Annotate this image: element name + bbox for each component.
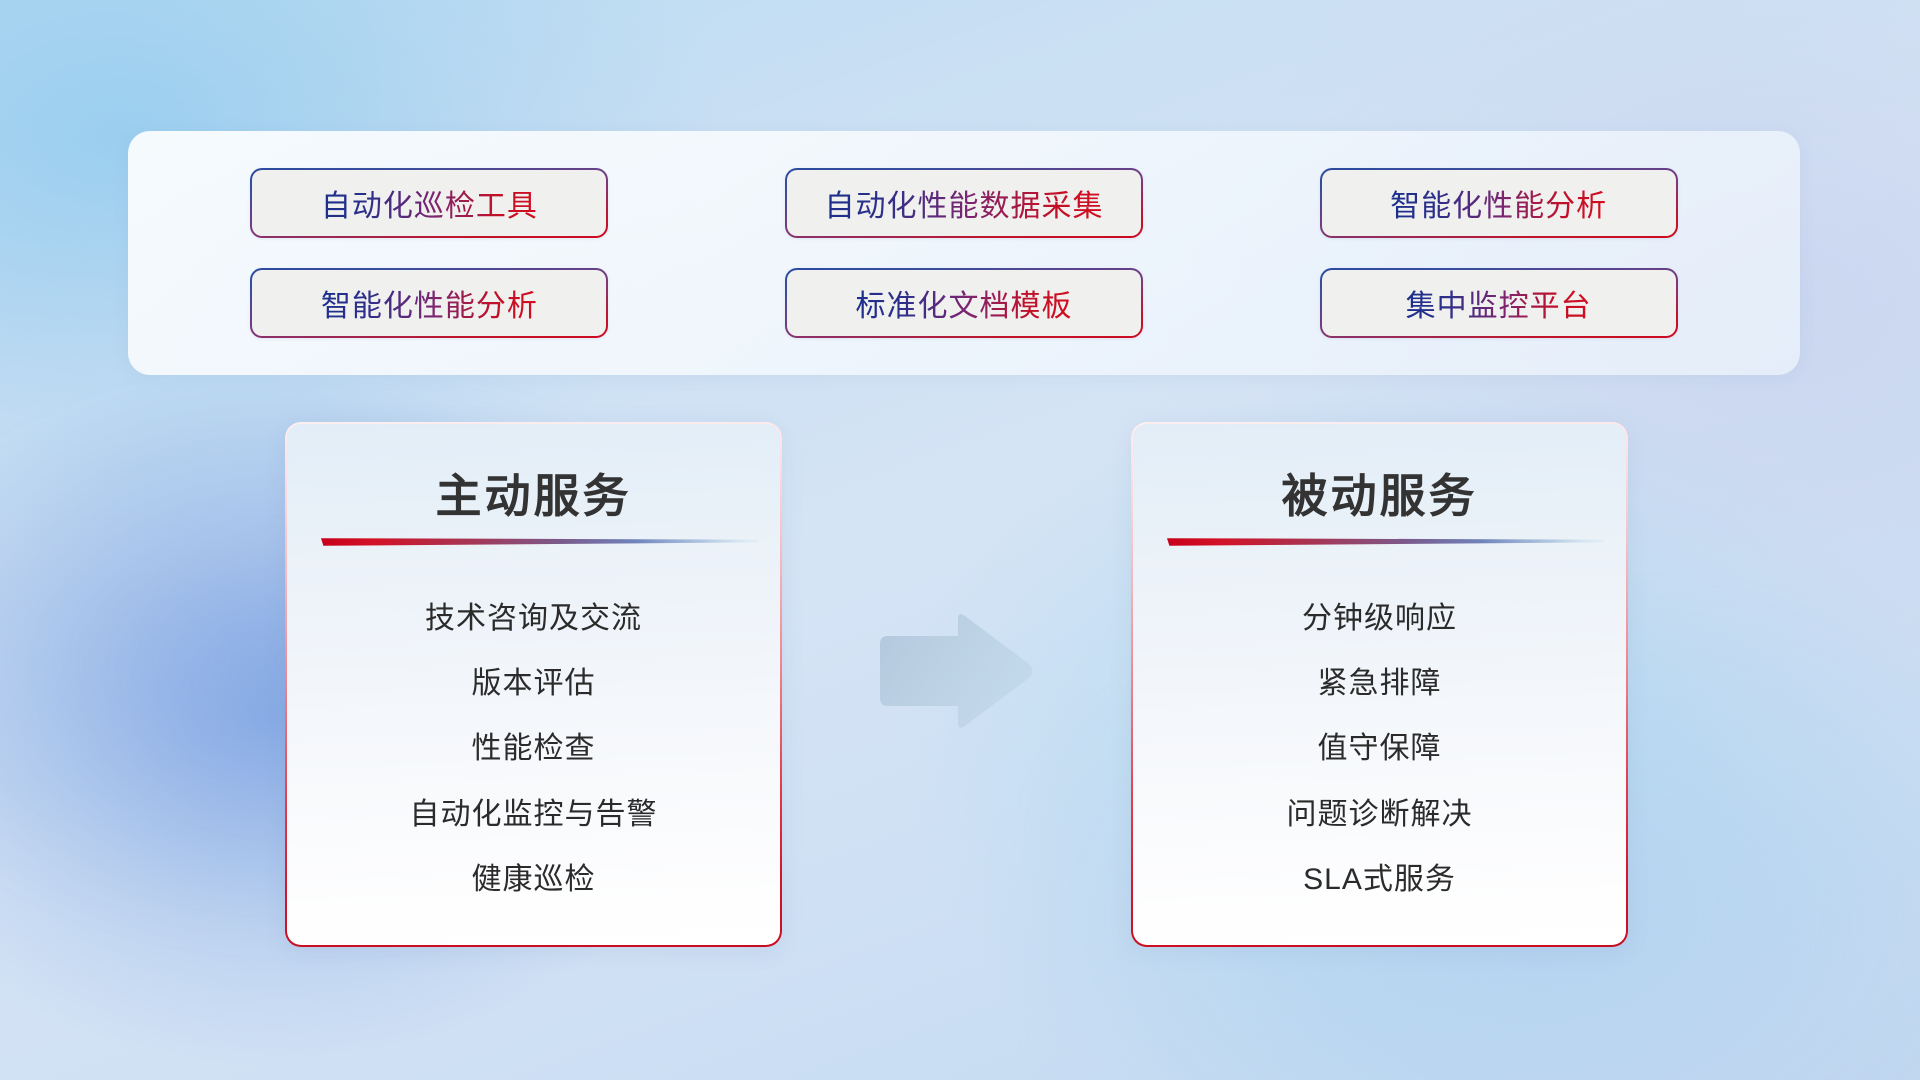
service-list-item: SLA式服务 (1303, 854, 1456, 898)
service-list-item: 自动化监控与告警 (410, 789, 658, 833)
service-card-reactive[interactable]: 被动服务 分钟级响应 紧急排障 (1131, 422, 1628, 947)
service-list-item: 健康巡检 (472, 854, 596, 898)
arrow-right-icon (872, 611, 1037, 731)
capability-pill-label: 集中监控平台 (1406, 281, 1592, 325)
capability-pill[interactable]: 集中监控平台 (1320, 268, 1678, 338)
capability-pill-label: 智能化性能分析 (1390, 181, 1607, 225)
service-list-item: 紧急排障 (1318, 658, 1442, 702)
card-title: 主动服务 (287, 460, 780, 526)
slide-canvas: 自动化巡检工具 自动化性能数据采集 智能化性能分析 智能化性能分析 标准化文档模… (0, 0, 1920, 1080)
capability-pill[interactable]: 自动化巡检工具 (250, 168, 608, 238)
capability-pill[interactable]: 自动化性能数据采集 (785, 168, 1143, 238)
capabilities-panel: 自动化巡检工具 自动化性能数据采集 智能化性能分析 智能化性能分析 标准化文档模… (128, 131, 1800, 375)
capability-pill[interactable]: 智能化性能分析 (250, 268, 608, 338)
capability-pill-label: 自动化巡检工具 (321, 181, 538, 225)
service-list-item: 问题诊断解决 (1287, 789, 1473, 833)
service-list: 技术咨询及交流 版本评估 性能检查 自动化监控与告警 健康巡检 (287, 572, 780, 919)
capability-pill[interactable]: 标准化文档模板 (785, 268, 1143, 338)
service-list-item: 技术咨询及交流 (425, 593, 642, 637)
service-list-item: 版本评估 (472, 658, 596, 702)
title-divider (321, 536, 758, 548)
title-divider (1167, 536, 1604, 548)
capability-pill-label: 自动化性能数据采集 (824, 181, 1103, 225)
card-title: 被动服务 (1133, 460, 1626, 526)
capability-pill-label: 标准化文档模板 (855, 281, 1072, 325)
capability-pill[interactable]: 智能化性能分析 (1320, 168, 1678, 238)
service-card-proactive[interactable]: 主动服务 技术咨询及交流 版本评估 (285, 422, 782, 947)
service-list-item: 值守保障 (1318, 723, 1442, 767)
capability-pill-label: 智能化性能分析 (321, 281, 538, 325)
capability-pill-grid: 自动化巡检工具 自动化性能数据采集 智能化性能分析 智能化性能分析 标准化文档模… (128, 131, 1800, 375)
service-list-item: 分钟级响应 (1302, 593, 1457, 637)
service-list: 分钟级响应 紧急排障 值守保障 问题诊断解决 SLA式服务 (1133, 572, 1626, 919)
service-list-item: 性能检查 (472, 723, 596, 767)
